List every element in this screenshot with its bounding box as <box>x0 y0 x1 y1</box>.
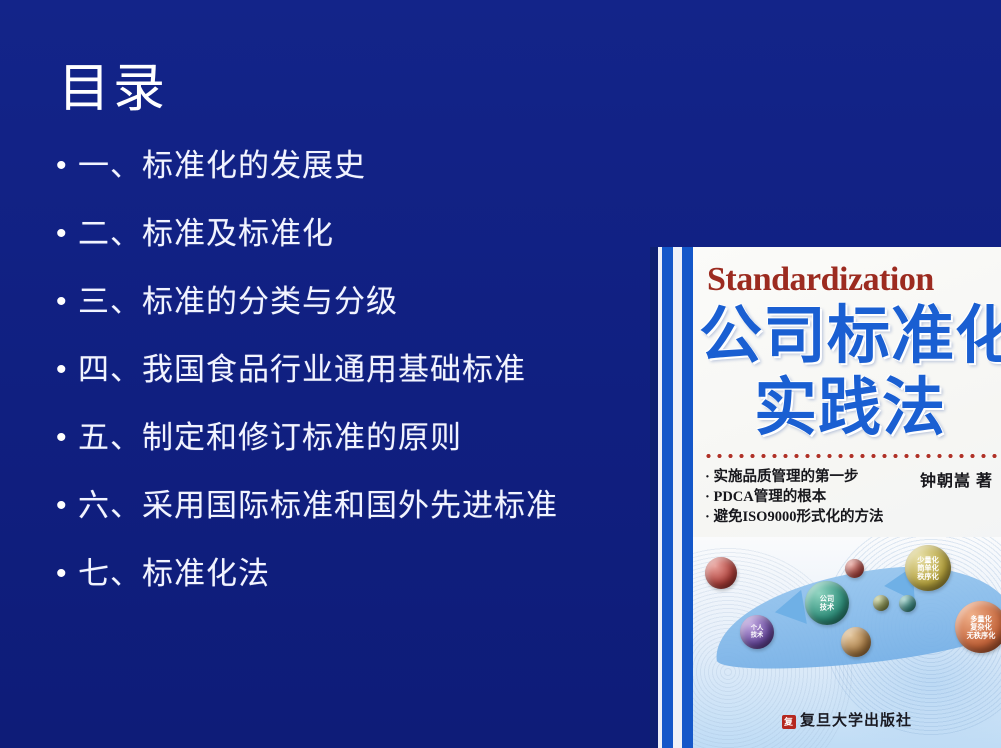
sphere-decorative <box>873 595 889 611</box>
cover-stripe-blue-1 <box>662 247 673 748</box>
sphere-ordered-state: 少量化简单化秩序化 <box>905 545 951 591</box>
publisher-name: 复旦大学出版社 <box>800 713 912 729</box>
sphere-decorative <box>899 595 916 612</box>
cover-illustration: 个人技术 公司技术 少量化简单化秩序化 多量化复杂化无秩序化 复复旦大学出版社 <box>693 537 1001 748</box>
bullet-icon: • <box>52 486 78 526</box>
sphere-label: 多量化复杂化无秩序化 <box>967 615 996 639</box>
cover-face: Standardization 公司标准化 实践法 实施品质管理的第一步 PDC… <box>693 247 1001 748</box>
cover-subtitle-item: 避免ISO9000形式化的方法 <box>705 507 893 527</box>
list-item: • 三、标准的分类与分级 <box>52 282 652 350</box>
sphere-label: 个人技术 <box>751 625 764 639</box>
cover-title-line-2: 实践法 <box>699 375 1001 441</box>
sphere-label: 公司技术 <box>820 595 834 611</box>
sphere-decorative <box>845 559 864 578</box>
sphere-disordered-state: 多量化复杂化无秩序化 <box>955 601 1001 653</box>
list-item-label: 四、我国食品行业通用基础标准 <box>78 350 526 390</box>
page-title: 目录 <box>58 62 168 117</box>
list-item: • 四、我国食品行业通用基础标准 <box>52 350 652 418</box>
bullet-icon: • <box>52 282 78 322</box>
sphere-label: 少量化简单化秩序化 <box>917 556 939 580</box>
sphere-decorative <box>705 557 737 589</box>
cover-subtitle-list: 实施品质管理的第一步 PDCA管理的根本 避免ISO9000形式化的方法 <box>705 467 893 527</box>
publisher-line: 复复旦大学出版社 <box>693 709 1001 730</box>
list-item: • 一、标准化的发展史 <box>52 146 652 214</box>
list-item-label: 五、制定和修订标准的原则 <box>78 418 462 458</box>
cover-stripe-navy <box>650 247 658 748</box>
list-item-label: 六、采用国际标准和国外先进标准 <box>78 486 558 526</box>
bullet-icon: • <box>52 554 78 594</box>
cover-english-title: Standardization <box>707 263 995 297</box>
cover-author: 钟朝嵩 著 <box>920 467 993 491</box>
bullet-icon: • <box>52 214 78 254</box>
table-of-contents-list: • 一、标准化的发展史 • 二、标准及标准化 • 三、标准的分类与分级 • 四、… <box>52 146 652 622</box>
list-item-label: 七、标准化法 <box>78 554 270 594</box>
cover-subtitle-item: PDCA管理的根本 <box>705 487 893 507</box>
bullet-icon: • <box>52 350 78 390</box>
bullet-icon: • <box>52 418 78 458</box>
cover-title-line-1: 公司标准化 <box>699 303 1001 369</box>
book-cover-image: Standardization 公司标准化 实践法 实施品质管理的第一步 PDC… <box>650 247 1001 748</box>
list-item: • 六、采用国际标准和国外先进标准 <box>52 486 652 554</box>
list-item: • 二、标准及标准化 <box>52 214 652 282</box>
list-item-label: 二、标准及标准化 <box>78 214 334 254</box>
cover-stripe-gap-2 <box>673 247 682 748</box>
cover-dotted-rule <box>703 453 997 459</box>
presentation-slide: 目录 • 一、标准化的发展史 • 二、标准及标准化 • 三、标准的分类与分级 •… <box>0 0 1001 748</box>
list-item-label: 三、标准的分类与分级 <box>78 282 398 322</box>
sphere-decorative <box>841 627 871 657</box>
publisher-seal-icon: 复 <box>782 715 796 729</box>
sphere-personal-technology: 个人技术 <box>740 615 774 649</box>
cover-stripe-blue-2 <box>682 247 693 748</box>
list-item: • 七、标准化法 <box>52 554 652 622</box>
sphere-company-technology: 公司技术 <box>805 581 849 625</box>
list-item-label: 一、标准化的发展史 <box>78 146 366 186</box>
cover-subtitle-item: 实施品质管理的第一步 <box>705 467 893 487</box>
list-item: • 五、制定和修订标准的原则 <box>52 418 652 486</box>
bullet-icon: • <box>52 146 78 186</box>
